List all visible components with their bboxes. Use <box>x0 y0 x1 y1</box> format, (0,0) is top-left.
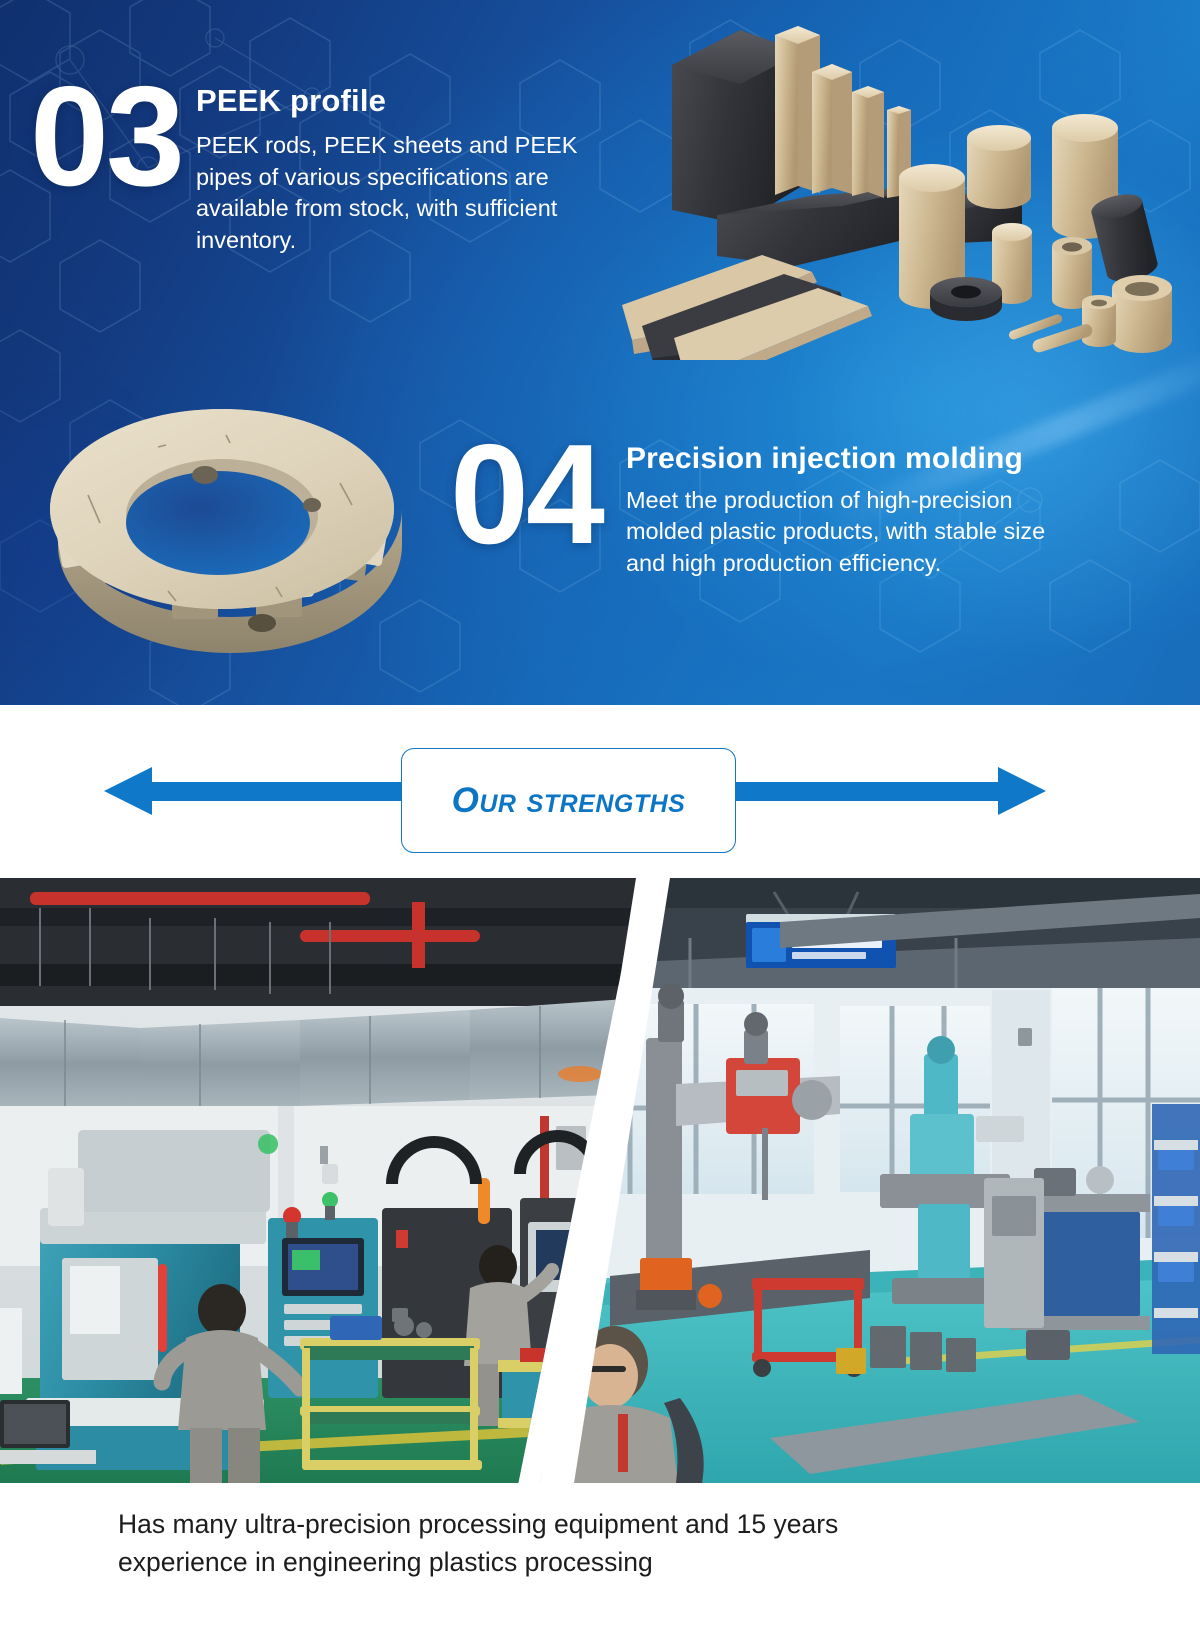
photo-cnc-workshop <box>0 878 640 1483</box>
feature-body-03: PEEK rods, PEEK sheets and PEEK pipes of… <box>196 130 616 256</box>
peek-products-image <box>612 10 1200 360</box>
feature-item-03: 03 PEEK profile PEEK rods, PEEK sheets a… <box>30 72 660 256</box>
our-strengths-label: Our strengths <box>452 781 686 821</box>
feature-title-03: PEEK profile <box>196 84 616 118</box>
photo-mold-workshop <box>540 878 1200 1483</box>
feature-number-04: 04 <box>450 430 602 579</box>
feature-number-03: 03 <box>30 72 182 256</box>
caption-line-1: Has many ultra-precision processing equi… <box>118 1505 1090 1543</box>
feature-body-04: Meet the production of high-precision mo… <box>626 485 1056 579</box>
factory-photo-pair <box>0 878 1200 1483</box>
hero-section: 03 PEEK profile PEEK rods, PEEK sheets a… <box>0 0 1200 705</box>
peek-gear-ring-image <box>40 405 420 670</box>
our-strengths-badge: Our strengths <box>401 748 736 853</box>
caption-line-2: experience in engineering plastics proce… <box>118 1543 1090 1581</box>
feature-item-04: 04 Precision injection molding Meet the … <box>450 430 1170 579</box>
bottom-caption: Has many ultra-precision processing equi… <box>0 1483 1200 1640</box>
feature-title-04: Precision injection molding <box>626 442 1056 475</box>
